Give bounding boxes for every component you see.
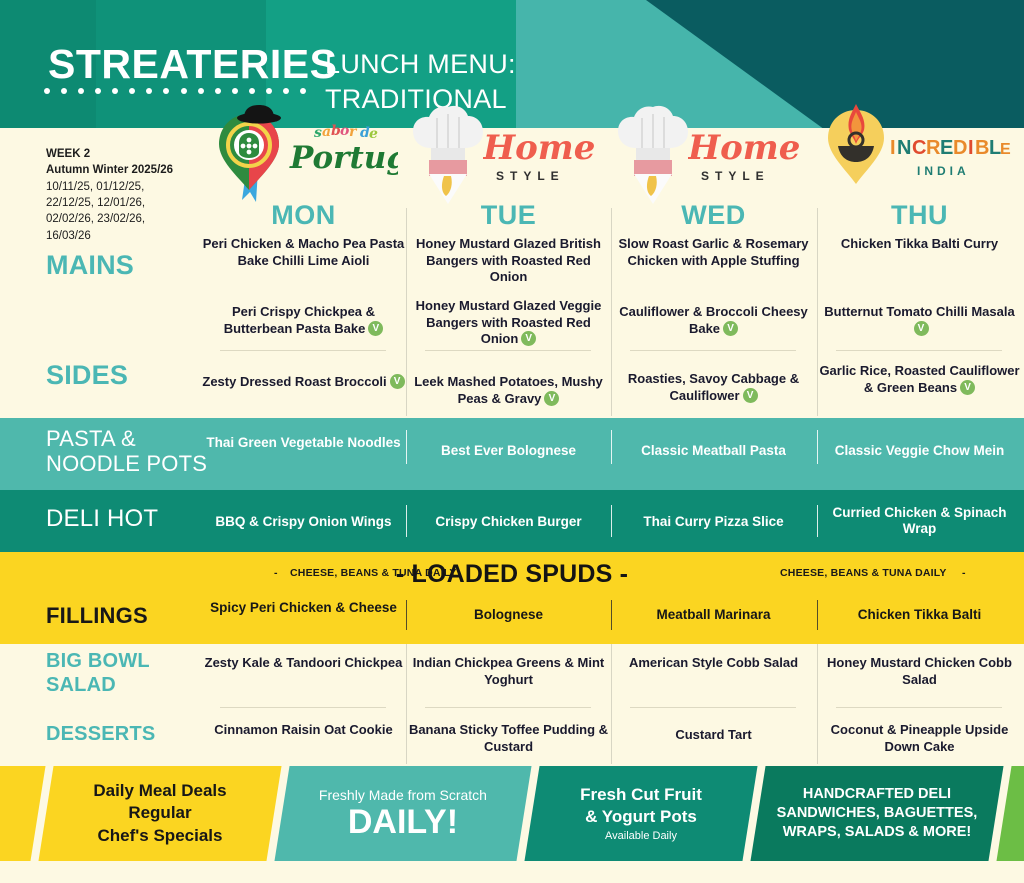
salad-dessert-divider-thu bbox=[836, 707, 1002, 708]
section-label-desserts: DESSERTS bbox=[46, 723, 155, 746]
svg-text:I: I bbox=[968, 137, 974, 159]
pasta-item-mon: Thai Green Vegetable Noodles bbox=[202, 435, 405, 451]
day-name-thu: THU bbox=[818, 200, 1021, 231]
mains-veg-item-wed: Cauliflower & Broccoli Cheesy BakeV bbox=[612, 304, 815, 337]
pasta-item-tue: Best Ever Bolognese bbox=[407, 443, 610, 459]
incredible-india-wordmark: I N C R E D I B L E INDIA bbox=[890, 132, 1015, 188]
svg-text:r: r bbox=[349, 124, 358, 140]
home-style-wordmark-wed: Home STYLE bbox=[688, 126, 808, 188]
home-style-logo-wed: Home STYLE bbox=[612, 104, 815, 208]
footer-deals-line3: Chef's Specials bbox=[46, 825, 274, 847]
salad-item-thu: Honey Mustard Chicken Cobb Salad bbox=[818, 655, 1021, 688]
day-name-tue: TUE bbox=[407, 200, 610, 231]
home-style-wordmark-tue: Home STYLE bbox=[483, 126, 603, 188]
vegetarian-badge: V bbox=[960, 380, 975, 395]
svg-text:N: N bbox=[897, 137, 911, 159]
filling-item-tue: Bolognese bbox=[407, 607, 610, 623]
svg-text:D: D bbox=[953, 137, 967, 159]
loaded-spuds-note-left: CHEESE, BEANS & TUNA DAILY bbox=[290, 567, 457, 579]
vegetarian-badge: V bbox=[544, 391, 559, 406]
mains-veg-item-tue: Honey Mustard Glazed Veggie Bangers with… bbox=[407, 298, 610, 348]
sabor-de-portugal-wordmark: s a b o r d e Portugal bbox=[288, 122, 398, 180]
mains-veg-item-mon: Peri Crispy Chickpea & Butterbean Pasta … bbox=[202, 304, 405, 337]
section-label-sides: SIDES bbox=[46, 360, 128, 391]
footer-deli-line2: SANDWICHES, BAGUETTES, bbox=[758, 804, 996, 823]
vegetarian-badge: V bbox=[914, 321, 929, 336]
incredible-india-logo: I N C R E D I B L E INDIA bbox=[818, 104, 1021, 208]
bowl-label-line1: BIG BOWL bbox=[46, 650, 150, 674]
pasta-label-line1: PASTA & bbox=[46, 427, 207, 452]
svg-text:E: E bbox=[1000, 141, 1011, 158]
svg-text:C: C bbox=[912, 137, 926, 159]
cell-divider-thu bbox=[836, 350, 1002, 351]
home-style-logo-tue: Home STYLE bbox=[407, 104, 610, 208]
section-label-mains: MAINS bbox=[46, 250, 134, 281]
week-dates-2: 22/12/25, 12/01/26, bbox=[46, 195, 216, 211]
footer-banners: Daily Meal Deals Regular Chef's Specials… bbox=[0, 766, 1024, 861]
svg-text:s: s bbox=[314, 125, 322, 141]
pasta-divider-3 bbox=[817, 430, 818, 464]
svg-text:E: E bbox=[940, 137, 953, 159]
cell-divider-tue bbox=[425, 350, 591, 351]
loaded-spuds-band-ext bbox=[0, 636, 1024, 644]
brand-dot-rule bbox=[44, 88, 306, 96]
deli-item-wed: Thai Curry Pizza Slice bbox=[612, 514, 815, 530]
deli-item-thu: Curried Chicken & Spinach Wrap bbox=[818, 505, 1021, 537]
sides-item-thu: Garlic Rice, Roasted Cauliflower & Green… bbox=[818, 363, 1021, 396]
footer-deals-text: Daily Meal Deals Regular Chef's Specials bbox=[46, 780, 274, 847]
week-dates-1: 10/11/25, 01/12/25, bbox=[46, 179, 216, 195]
vegetarian-badge: V bbox=[743, 388, 758, 403]
week-dates-4: 16/03/26 bbox=[46, 228, 216, 244]
sides-text-wed: Roasties, Savoy Cabbage & Cauliflower bbox=[628, 371, 799, 403]
vegetarian-badge: V bbox=[723, 321, 738, 336]
sides-text-mon: Zesty Dressed Roast Broccoli bbox=[202, 374, 386, 389]
menu-subtitle-line1: LUNCH MENU: bbox=[325, 47, 516, 82]
svg-text:INDIA: INDIA bbox=[917, 164, 970, 178]
deli-divider-2 bbox=[611, 505, 612, 537]
dessert-item-wed: Custard Tart bbox=[612, 727, 815, 744]
vegetarian-badge: V bbox=[521, 331, 536, 346]
cell-divider-wed bbox=[630, 350, 796, 351]
svg-text:a: a bbox=[322, 124, 331, 140]
pasta-label-line2: NOODLE POTS bbox=[46, 452, 207, 477]
dessert-item-thu: Coconut & Pineapple Upside Down Cake bbox=[818, 722, 1021, 755]
sabor-de-portugal-logo: s a b o r d e Portugal bbox=[202, 104, 405, 208]
salad-item-tue: Indian Chickpea Greens & Mint Yoghurt bbox=[407, 655, 610, 688]
bowl-label-line2: SALAD bbox=[46, 674, 150, 698]
footer-fruit-line1: Fresh Cut Fruit bbox=[532, 784, 750, 806]
salad-item-wed: American Style Cobb Salad bbox=[612, 655, 815, 672]
vegetarian-badge: V bbox=[390, 374, 405, 389]
footer-deals-line2: Regular bbox=[46, 802, 274, 824]
week-dates-3: 02/02/26, 23/02/26, bbox=[46, 211, 216, 227]
cell-divider-mon bbox=[220, 350, 386, 351]
salad-dessert-divider-mon bbox=[220, 707, 386, 708]
footer-deals-line1: Daily Meal Deals bbox=[46, 780, 274, 802]
salad-dessert-divider-tue bbox=[425, 707, 591, 708]
mains-item-tue: Honey Mustard Glazed British Bangers wit… bbox=[407, 236, 610, 286]
footer-banner-scratch: Freshly Made from Scratch DAILY! bbox=[274, 766, 531, 861]
svg-text:R: R bbox=[926, 137, 941, 159]
menu-page: STREATERIES LUNCH MENU: TRADITIONAL WEEK… bbox=[0, 0, 1024, 883]
week-season: Autumn Winter 2025/26 bbox=[46, 162, 216, 178]
footer-deli-line3: WRAPS, SALADS & MORE! bbox=[758, 823, 996, 842]
svg-text:I: I bbox=[890, 137, 896, 159]
sides-item-wed: Roasties, Savoy Cabbage & CauliflowerV bbox=[612, 371, 815, 404]
mains-veg-text-wed: Cauliflower & Broccoli Cheesy Bake bbox=[619, 304, 808, 336]
week-info: WEEK 2 Autumn Winter 2025/26 10/11/25, 0… bbox=[46, 146, 216, 244]
fillings-divider-1 bbox=[406, 600, 407, 630]
svg-text:Home: Home bbox=[483, 128, 595, 168]
dessert-item-tue: Banana Sticky Toffee Pudding & Custard bbox=[407, 722, 610, 755]
svg-text:Portugal: Portugal bbox=[289, 140, 398, 176]
sides-text-tue: Leek Mashed Potatoes, Mushy Peas & Gravy bbox=[414, 374, 603, 406]
svg-text:B: B bbox=[975, 137, 989, 159]
mains-veg-text-thu: Butternut Tomato Chilli Masala bbox=[824, 304, 1014, 319]
svg-text:o: o bbox=[340, 123, 349, 139]
footer-banner-deals: Daily Meal Deals Regular Chef's Specials bbox=[38, 766, 281, 861]
salad-dessert-divider-wed bbox=[630, 707, 796, 708]
footer-banner-fruit: Fresh Cut Fruit & Yogurt Pots Available … bbox=[524, 766, 757, 861]
filling-item-mon: Spicy Peri Chicken & Cheese bbox=[202, 600, 405, 616]
svg-text:STYLE: STYLE bbox=[496, 169, 565, 183]
footer-scratch-text: Freshly Made from Scratch DAILY! bbox=[282, 786, 524, 842]
filling-item-wed: Meatball Marinara bbox=[612, 607, 815, 623]
footer-scratch-small: Freshly Made from Scratch bbox=[282, 786, 524, 804]
day-name-wed: WED bbox=[612, 200, 815, 231]
sides-item-mon: Zesty Dressed Roast BroccoliV bbox=[202, 374, 405, 391]
section-label-fillings: FILLINGS bbox=[46, 603, 148, 629]
section-label-pasta-noodle: PASTA & NOODLE POTS bbox=[46, 427, 207, 476]
deli-divider-3 bbox=[817, 505, 818, 537]
pasta-item-wed: Classic Meatball Pasta bbox=[612, 443, 815, 459]
loaded-spuds-dash-right: - bbox=[962, 567, 966, 579]
section-label-big-bowl-salad: BIG BOWL SALAD bbox=[46, 650, 150, 697]
pasta-item-thu: Classic Veggie Chow Mein bbox=[818, 443, 1021, 459]
salad-divider-2 bbox=[611, 644, 612, 764]
deli-item-tue: Crispy Chicken Burger bbox=[407, 514, 610, 530]
fillings-divider-3 bbox=[817, 600, 818, 630]
footer-deli-text: HANDCRAFTED DELI SANDWICHES, BAGUETTES, … bbox=[758, 785, 996, 842]
sides-text-thu: Garlic Rice, Roasted Cauliflower & Green… bbox=[819, 363, 1019, 395]
dessert-item-mon: Cinnamon Raisin Oat Cookie bbox=[202, 722, 405, 739]
fillings-divider-2 bbox=[611, 600, 612, 630]
mains-item-mon: Peri Chicken & Macho Pea Pasta Bake Chil… bbox=[202, 236, 405, 269]
footer-fruit-line2: & Yogurt Pots bbox=[532, 806, 750, 828]
loaded-spuds-note-right: CHEESE, BEANS & TUNA DAILY bbox=[780, 567, 947, 579]
deli-divider-1 bbox=[406, 505, 407, 537]
svg-text:STYLE: STYLE bbox=[701, 169, 770, 183]
footer-banner-deli: HANDCRAFTED DELI SANDWICHES, BAGUETTES, … bbox=[750, 766, 1003, 861]
mains-item-wed: Slow Roast Garlic & Rosemary Chicken wit… bbox=[612, 236, 815, 269]
mains-veg-text-mon: Peri Crispy Chickpea & Butterbean Pasta … bbox=[224, 304, 375, 336]
section-label-deli-hot: DELI HOT bbox=[46, 505, 158, 533]
deli-item-mon: BBQ & Crispy Onion Wings bbox=[202, 514, 405, 530]
day-name-mon: MON bbox=[202, 200, 405, 231]
loaded-spuds-dash-left: - bbox=[274, 567, 278, 579]
week-number: WEEK 2 bbox=[46, 146, 216, 162]
footer-deli-line1: HANDCRAFTED DELI bbox=[758, 785, 996, 804]
brand-title: STREATERIES bbox=[48, 44, 338, 85]
mains-item-thu: Chicken Tikka Balti Curry bbox=[818, 236, 1021, 253]
sides-item-tue: Leek Mashed Potatoes, Mushy Peas & Gravy… bbox=[407, 374, 610, 407]
vegetarian-badge: V bbox=[368, 321, 383, 336]
svg-text:Home: Home bbox=[688, 128, 800, 168]
filling-item-thu: Chicken Tikka Balti bbox=[818, 607, 1021, 623]
footer-scratch-big: DAILY! bbox=[282, 804, 524, 841]
mains-veg-text-tue: Honey Mustard Glazed Veggie Bangers with… bbox=[416, 298, 602, 346]
mains-veg-item-thu: Butternut Tomato Chilli MasalaV bbox=[818, 304, 1021, 337]
salad-item-mon: Zesty Kale & Tandoori Chickpea bbox=[202, 655, 405, 672]
footer-fruit-small: Available Daily bbox=[532, 829, 750, 843]
footer-fruit-text: Fresh Cut Fruit & Yogurt Pots Available … bbox=[532, 784, 750, 843]
pasta-divider-1 bbox=[406, 430, 407, 464]
footer-banner-edge-left bbox=[0, 766, 46, 861]
pasta-divider-2 bbox=[611, 430, 612, 464]
